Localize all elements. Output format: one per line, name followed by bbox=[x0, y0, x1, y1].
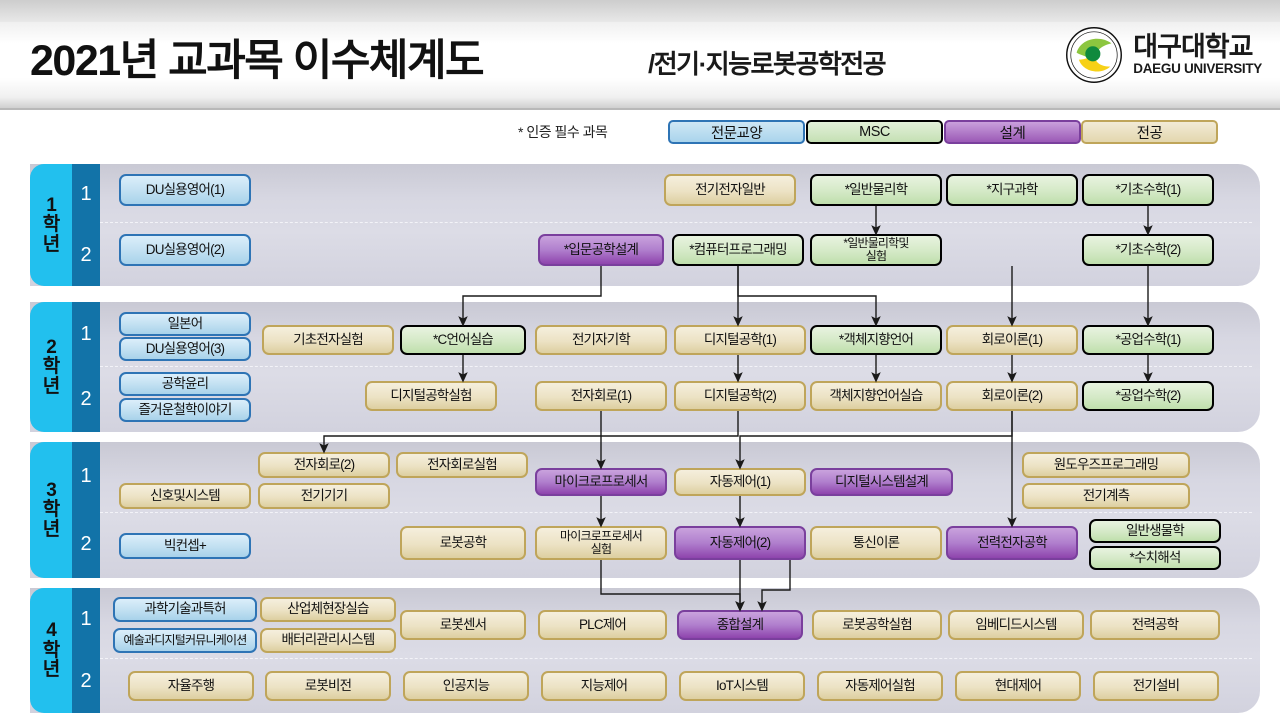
semester-divider-1 bbox=[100, 222, 1252, 223]
course-box-c60[interactable]: 자동제어실험 bbox=[817, 671, 943, 701]
course-box-c35[interactable]: 디지털시스템설계 bbox=[810, 468, 953, 496]
course-box-c51[interactable]: 임베디드시스템 bbox=[948, 610, 1084, 640]
course-box-c42[interactable]: 전력전자공학 bbox=[946, 526, 1078, 560]
semester-column-year-3: 12 bbox=[72, 442, 100, 578]
course-box-c62[interactable]: 전기설비 bbox=[1093, 671, 1219, 701]
course-box-c59[interactable]: IoT시스템 bbox=[679, 671, 805, 701]
course-box-c22[interactable]: 디지털공학실험 bbox=[365, 381, 497, 411]
year-tab-1: 1학년 bbox=[30, 164, 72, 286]
curriculum-flowchart: 2021년 교과목 이수체계도 /전기·지능로봇공학전공 대구대학교 DAEGU… bbox=[0, 0, 1280, 720]
course-box-c21[interactable]: 즐거운철학이야기 bbox=[119, 398, 251, 422]
year-tab-3: 3학년 bbox=[30, 442, 72, 578]
semester-label-4-1: 1 bbox=[72, 588, 100, 651]
course-box-c45[interactable]: 과학기술과특허 bbox=[113, 597, 257, 622]
semester-label-1-2: 2 bbox=[72, 225, 100, 286]
semester-column-year-4: 12 bbox=[72, 588, 100, 713]
course-box-c43[interactable]: 일반생물학 bbox=[1089, 519, 1221, 543]
semester-label-4-2: 2 bbox=[72, 651, 100, 714]
year-tab-2: 2학년 bbox=[30, 302, 72, 432]
course-box-c61[interactable]: 현대제어 bbox=[955, 671, 1081, 701]
logo-text-ko: 대구대학교 bbox=[1133, 33, 1262, 61]
university-logo: 대구대학교 DAEGU UNIVERSITY bbox=[1065, 26, 1262, 84]
course-box-c24[interactable]: 디지털공학(2) bbox=[674, 381, 806, 411]
legend-item-design: 설계 bbox=[944, 120, 1081, 144]
semester-divider-4 bbox=[100, 658, 1252, 659]
course-box-c56[interactable]: 로봇비전 bbox=[265, 671, 391, 701]
course-box-c48[interactable]: PLC제어 bbox=[538, 610, 667, 640]
course-box-c41[interactable]: 통신이론 bbox=[810, 526, 942, 560]
semester-divider-3 bbox=[100, 512, 1252, 513]
legend-item-msc: MSC bbox=[806, 120, 943, 144]
course-box-c7[interactable]: *입문공학설계 bbox=[538, 234, 664, 266]
course-box-c36[interactable]: 전기계측 bbox=[1022, 483, 1190, 509]
page-header: 2021년 교과목 이수체계도 /전기·지능로봇공학전공 대구대학교 DAEGU… bbox=[0, 0, 1280, 110]
legend-item-major: 전공 bbox=[1081, 120, 1218, 144]
course-box-c32[interactable]: 전기기기 bbox=[258, 483, 390, 509]
course-box-c15[interactable]: 전기자기학 bbox=[535, 325, 667, 355]
logo-text: 대구대학교 DAEGU UNIVERSITY bbox=[1133, 33, 1262, 76]
course-box-c19[interactable]: *공업수학(1) bbox=[1082, 325, 1214, 355]
semester-label-3-2: 2 bbox=[72, 510, 100, 578]
course-box-c6[interactable]: DU실용영어(2) bbox=[119, 234, 251, 266]
page-subtitle: /전기·지능로봇공학전공 bbox=[648, 44, 885, 81]
header-top-strip bbox=[0, 0, 1280, 22]
course-box-c16[interactable]: 디지털공학(1) bbox=[674, 325, 806, 355]
course-box-c49[interactable]: 종합설계 bbox=[677, 610, 803, 640]
course-box-c9[interactable]: *일반물리학및 실험 bbox=[810, 234, 942, 266]
course-box-c2[interactable]: 전기전자일반 bbox=[664, 174, 796, 206]
semester-label-2-2: 2 bbox=[72, 367, 100, 432]
course-box-c13[interactable]: 기초전자실험 bbox=[262, 325, 394, 355]
semester-label-1-1: 1 bbox=[72, 164, 100, 225]
course-box-c28[interactable]: 전자회로(2) bbox=[258, 452, 390, 478]
course-box-c34[interactable]: 자동제어(1) bbox=[674, 468, 806, 496]
course-box-c54[interactable]: 배터리관리시스템 bbox=[260, 628, 396, 653]
page-title: 2021년 교과목 이수체계도 bbox=[30, 26, 483, 88]
course-box-c44[interactable]: *수치해석 bbox=[1089, 546, 1221, 570]
legend-item-basic: 전문교양 bbox=[668, 120, 805, 144]
course-box-c31[interactable]: 신호및시스템 bbox=[119, 483, 251, 509]
logo-text-en: DAEGU UNIVERSITY bbox=[1133, 62, 1262, 77]
course-box-c33[interactable]: 마이크로프로세서 bbox=[535, 468, 667, 496]
course-box-c18[interactable]: 회로이론(1) bbox=[946, 325, 1078, 355]
course-box-c30[interactable]: 원도우즈프로그래밍 bbox=[1022, 452, 1190, 478]
course-box-c27[interactable]: *공업수학(2) bbox=[1082, 381, 1214, 411]
course-box-c14[interactable]: *C언어실습 bbox=[400, 325, 526, 355]
course-box-c53[interactable]: 예술과디지털커뮤니케이션 bbox=[113, 628, 257, 653]
course-box-c12[interactable]: DU실용영어(3) bbox=[119, 337, 251, 361]
course-box-c57[interactable]: 인공지능 bbox=[403, 671, 529, 701]
course-box-c40[interactable]: 자동제어(2) bbox=[674, 526, 806, 560]
legend-note: * 인증 필수 과목 bbox=[518, 122, 607, 142]
course-box-c29[interactable]: 전자회로실험 bbox=[396, 452, 528, 478]
course-box-c55[interactable]: 자율주행 bbox=[128, 671, 254, 701]
semester-column-year-2: 12 bbox=[72, 302, 100, 432]
course-box-c17[interactable]: *객체지향언어 bbox=[810, 325, 942, 355]
course-box-c39[interactable]: 마이크로프로세서 실험 bbox=[535, 526, 667, 560]
semester-label-3-1: 1 bbox=[72, 442, 100, 510]
course-box-c46[interactable]: 산업체현장실습 bbox=[260, 597, 396, 622]
course-box-c10[interactable]: *기초수학(2) bbox=[1082, 234, 1214, 266]
semester-column-year-1: 12 bbox=[72, 164, 100, 286]
course-box-c20[interactable]: 공학윤리 bbox=[119, 372, 251, 396]
semester-label-2-1: 1 bbox=[72, 302, 100, 367]
course-box-c26[interactable]: 회로이론(2) bbox=[946, 381, 1078, 411]
course-box-c8[interactable]: *컴퓨터프로그래밍 bbox=[672, 234, 804, 266]
course-box-c25[interactable]: 객체지향언어실습 bbox=[810, 381, 942, 411]
course-box-c3[interactable]: *일반물리학 bbox=[810, 174, 942, 206]
course-box-c38[interactable]: 로봇공학 bbox=[400, 526, 526, 560]
course-box-c52[interactable]: 전력공학 bbox=[1090, 610, 1220, 640]
course-box-c58[interactable]: 지능제어 bbox=[541, 671, 667, 701]
course-box-c11[interactable]: 일본어 bbox=[119, 312, 251, 336]
daegu-university-emblem-icon bbox=[1065, 26, 1123, 84]
course-box-c23[interactable]: 전자회로(1) bbox=[535, 381, 667, 411]
course-box-c1[interactable]: DU실용영어(1) bbox=[119, 174, 251, 206]
semester-divider-2 bbox=[100, 366, 1252, 367]
course-box-c50[interactable]: 로봇공학실험 bbox=[812, 610, 942, 640]
year-tab-4: 4학년 bbox=[30, 588, 72, 713]
course-box-c47[interactable]: 로봇센서 bbox=[400, 610, 526, 640]
course-box-c37[interactable]: 빅컨셉+ bbox=[119, 533, 251, 559]
course-box-c5[interactable]: *기초수학(1) bbox=[1082, 174, 1214, 206]
course-box-c4[interactable]: *지구과학 bbox=[946, 174, 1078, 206]
